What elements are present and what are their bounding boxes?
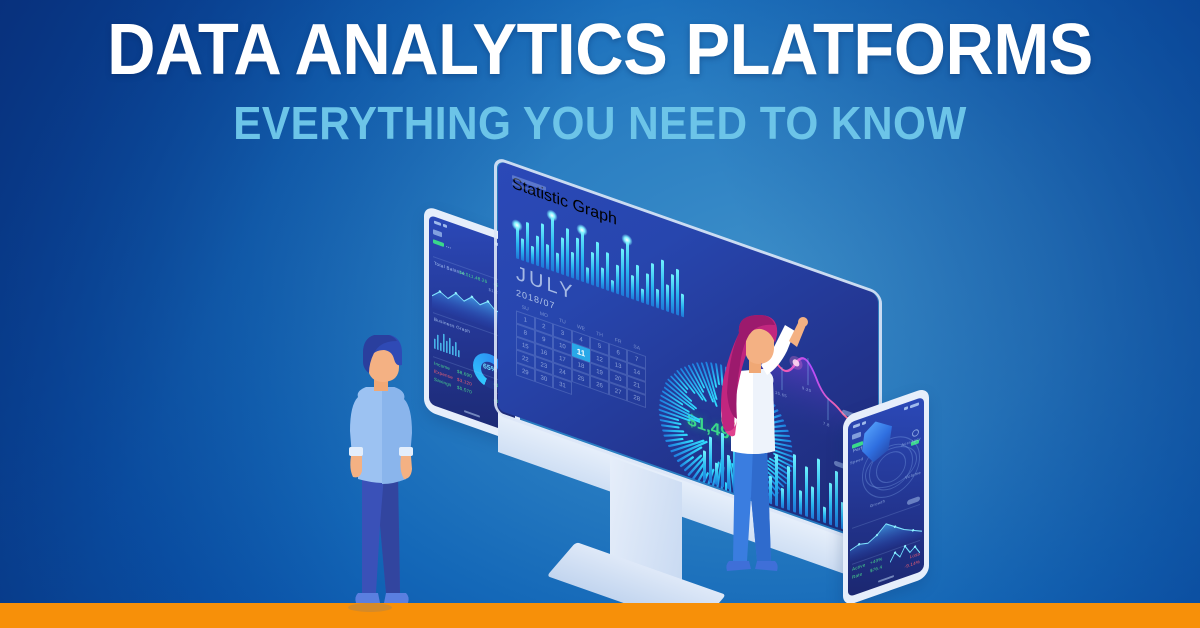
phone-device-right: Performance Speed Accuracy Volume Growth (843, 417, 953, 628)
tablet-menu-icon[interactable] (433, 229, 442, 237)
bottom-accent-bar (0, 603, 1200, 628)
phone-menu-icon[interactable] (852, 432, 861, 440)
man-floor-shadow (348, 603, 392, 612)
phone-home-indicator[interactable] (878, 575, 894, 583)
title-block: DATA ANALYTICS PLATFORMS EVERYTHING YOU … (0, 14, 1200, 146)
phone-stat2-value: $76.4 (870, 564, 882, 573)
tablet-status-chip (433, 239, 444, 247)
page-subtitle: EVERYTHING YOU NEED TO KNOW (48, 100, 1152, 146)
standing-man-figure (336, 335, 436, 615)
tablet-status-label: ••• (446, 244, 451, 251)
phone-stat2-label: Rate (852, 571, 862, 580)
phone-screen: Performance Speed Accuracy Volume Growth (848, 396, 924, 597)
banner-root: ••• Total Balance $4,511,48.26 +8.40% $1… (0, 0, 1200, 628)
tablet-home-indicator[interactable] (464, 410, 480, 418)
page-title: DATA ANALYTICS PLATFORMS (42, 14, 1158, 86)
phone-body: Performance Speed Accuracy Volume Growth (843, 387, 929, 607)
tablet-mini-bars (434, 327, 462, 359)
woman-touching-screen-figure (709, 315, 809, 590)
